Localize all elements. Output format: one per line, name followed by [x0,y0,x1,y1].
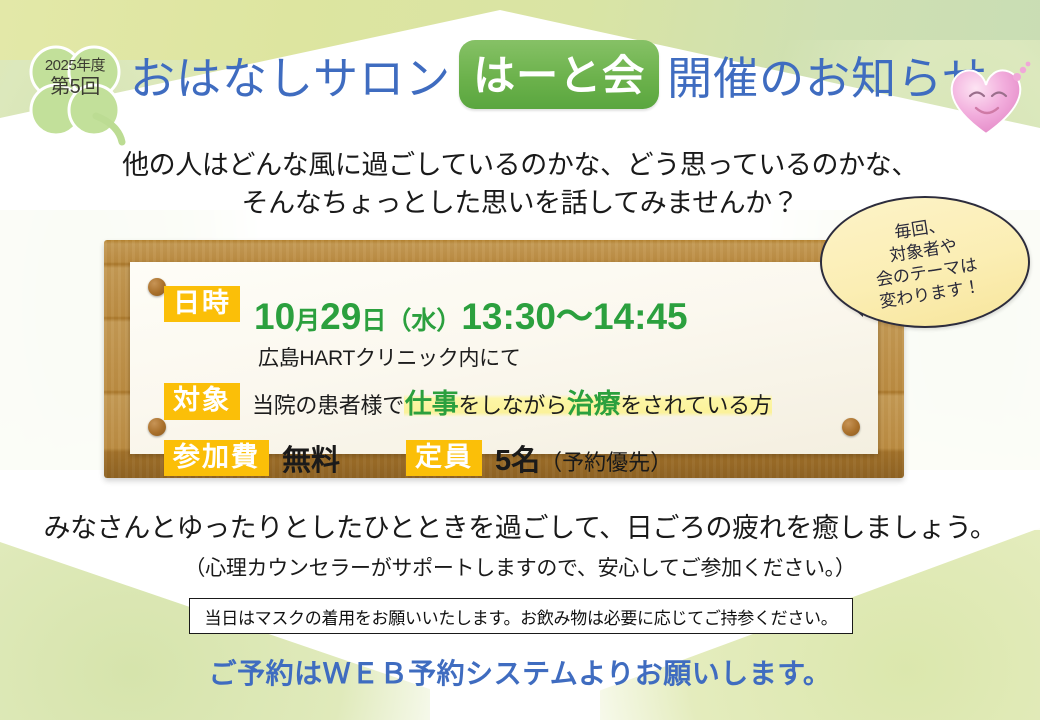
closing-subtext: （心理カウンセラーがサポートしますので、安心してご参加ください。） [0,552,1040,582]
header: 2025年度 第5回 おはなしサロン はーと会 開催のお知らせ [0,26,1040,122]
datetime-month: 10 [254,296,295,337]
row-datetime: 日時 10月29日（水）13:30〜14:45 [164,286,864,340]
title-highlight-badge: はーと会 [459,40,659,109]
four-leaf-clover-icon: 2025年度 第5回 [16,38,134,146]
datetime-time: 13:30〜14:45 [461,296,687,337]
target-suffix: をされている方 [620,393,771,418]
tag-fee: 参加費 [164,440,269,476]
notice-text: 当日はマスクの着用をお願いいたします。お飲み物は必要に応じてご持参ください。 [205,604,838,629]
title-suffix: 開催のお知らせ [667,42,988,107]
fee-value: 無料 [282,437,340,479]
tag-datetime: 日時 [164,286,240,322]
capacity-note: （予約優先） [540,450,672,475]
datetime-month-unit: 月 [295,307,320,335]
row-target: 対象 当院の患者様で仕事をしながら治療をされている方 [164,382,864,421]
target-keyword-1: 仕事 [405,389,458,419]
speech-bubble: 毎回、 対象者や 会のテーマは 変わります！ [820,196,1030,328]
clover-badge-text: 2025年度 第5回 [16,56,134,101]
target-middle: をしながら [458,393,567,418]
title-main: おはなしサロン [130,42,451,107]
tag-target: 対象 [164,383,240,419]
web-reservation-note: ご予約はＷＥＢ予約システムよりお願いします。 [0,652,1040,692]
capacity-value: 5名（予約優先） [495,437,672,479]
badge-year: 2025年度 [16,56,134,75]
intro-line-1: 他の人はどんな風に過ごしているのかな、どう思っているのかな、 [0,146,1040,184]
board-detail-rows: 日時 10月29日（水）13:30〜14:45 広島HARTクリニック内にて 対… [164,284,864,479]
event-flyer: 2025年度 第5回 おはなしサロン はーと会 開催のお知らせ [0,0,1040,720]
capacity-number: 5名 [495,445,540,477]
badge-number: 第5回 [16,75,134,101]
target-keyword-2: 治療 [567,389,620,419]
target-prefix: 当院の患者様で [252,393,404,418]
row-fee-capacity: 参加費 無料 定員 5名（予約優先） [164,437,864,479]
tag-capacity: 定員 [406,440,482,476]
pink-heart-mascot-icon [946,60,1032,140]
datetime-day: 29 [320,296,361,337]
venue-text: 広島HARTクリニック内にて [258,342,864,372]
board-inner-panel: 日時 10月29日（水）13:30〜14:45 広島HARTクリニック内にて 対… [130,262,878,454]
datetime-value: 10月29日（水）13:30〜14:45 [254,286,688,340]
page-title: おはなしサロン はーと会 開催のお知らせ [130,26,988,122]
target-value: 当院の患者様で仕事をしながら治療をされている方 [252,382,772,421]
datetime-day-unit: 日（水） [361,307,461,335]
notice-box: 当日はマスクの着用をお願いいたします。お飲み物は必要に応じてご持参ください。 [189,598,853,634]
closing-message: みなさんとゆったりとしたひとときを過ごして、日ごろの疲れを癒しましょう。 [0,506,1040,545]
wooden-board: 日時 10月29日（水）13:30〜14:45 広島HARTクリニック内にて 対… [104,240,904,478]
